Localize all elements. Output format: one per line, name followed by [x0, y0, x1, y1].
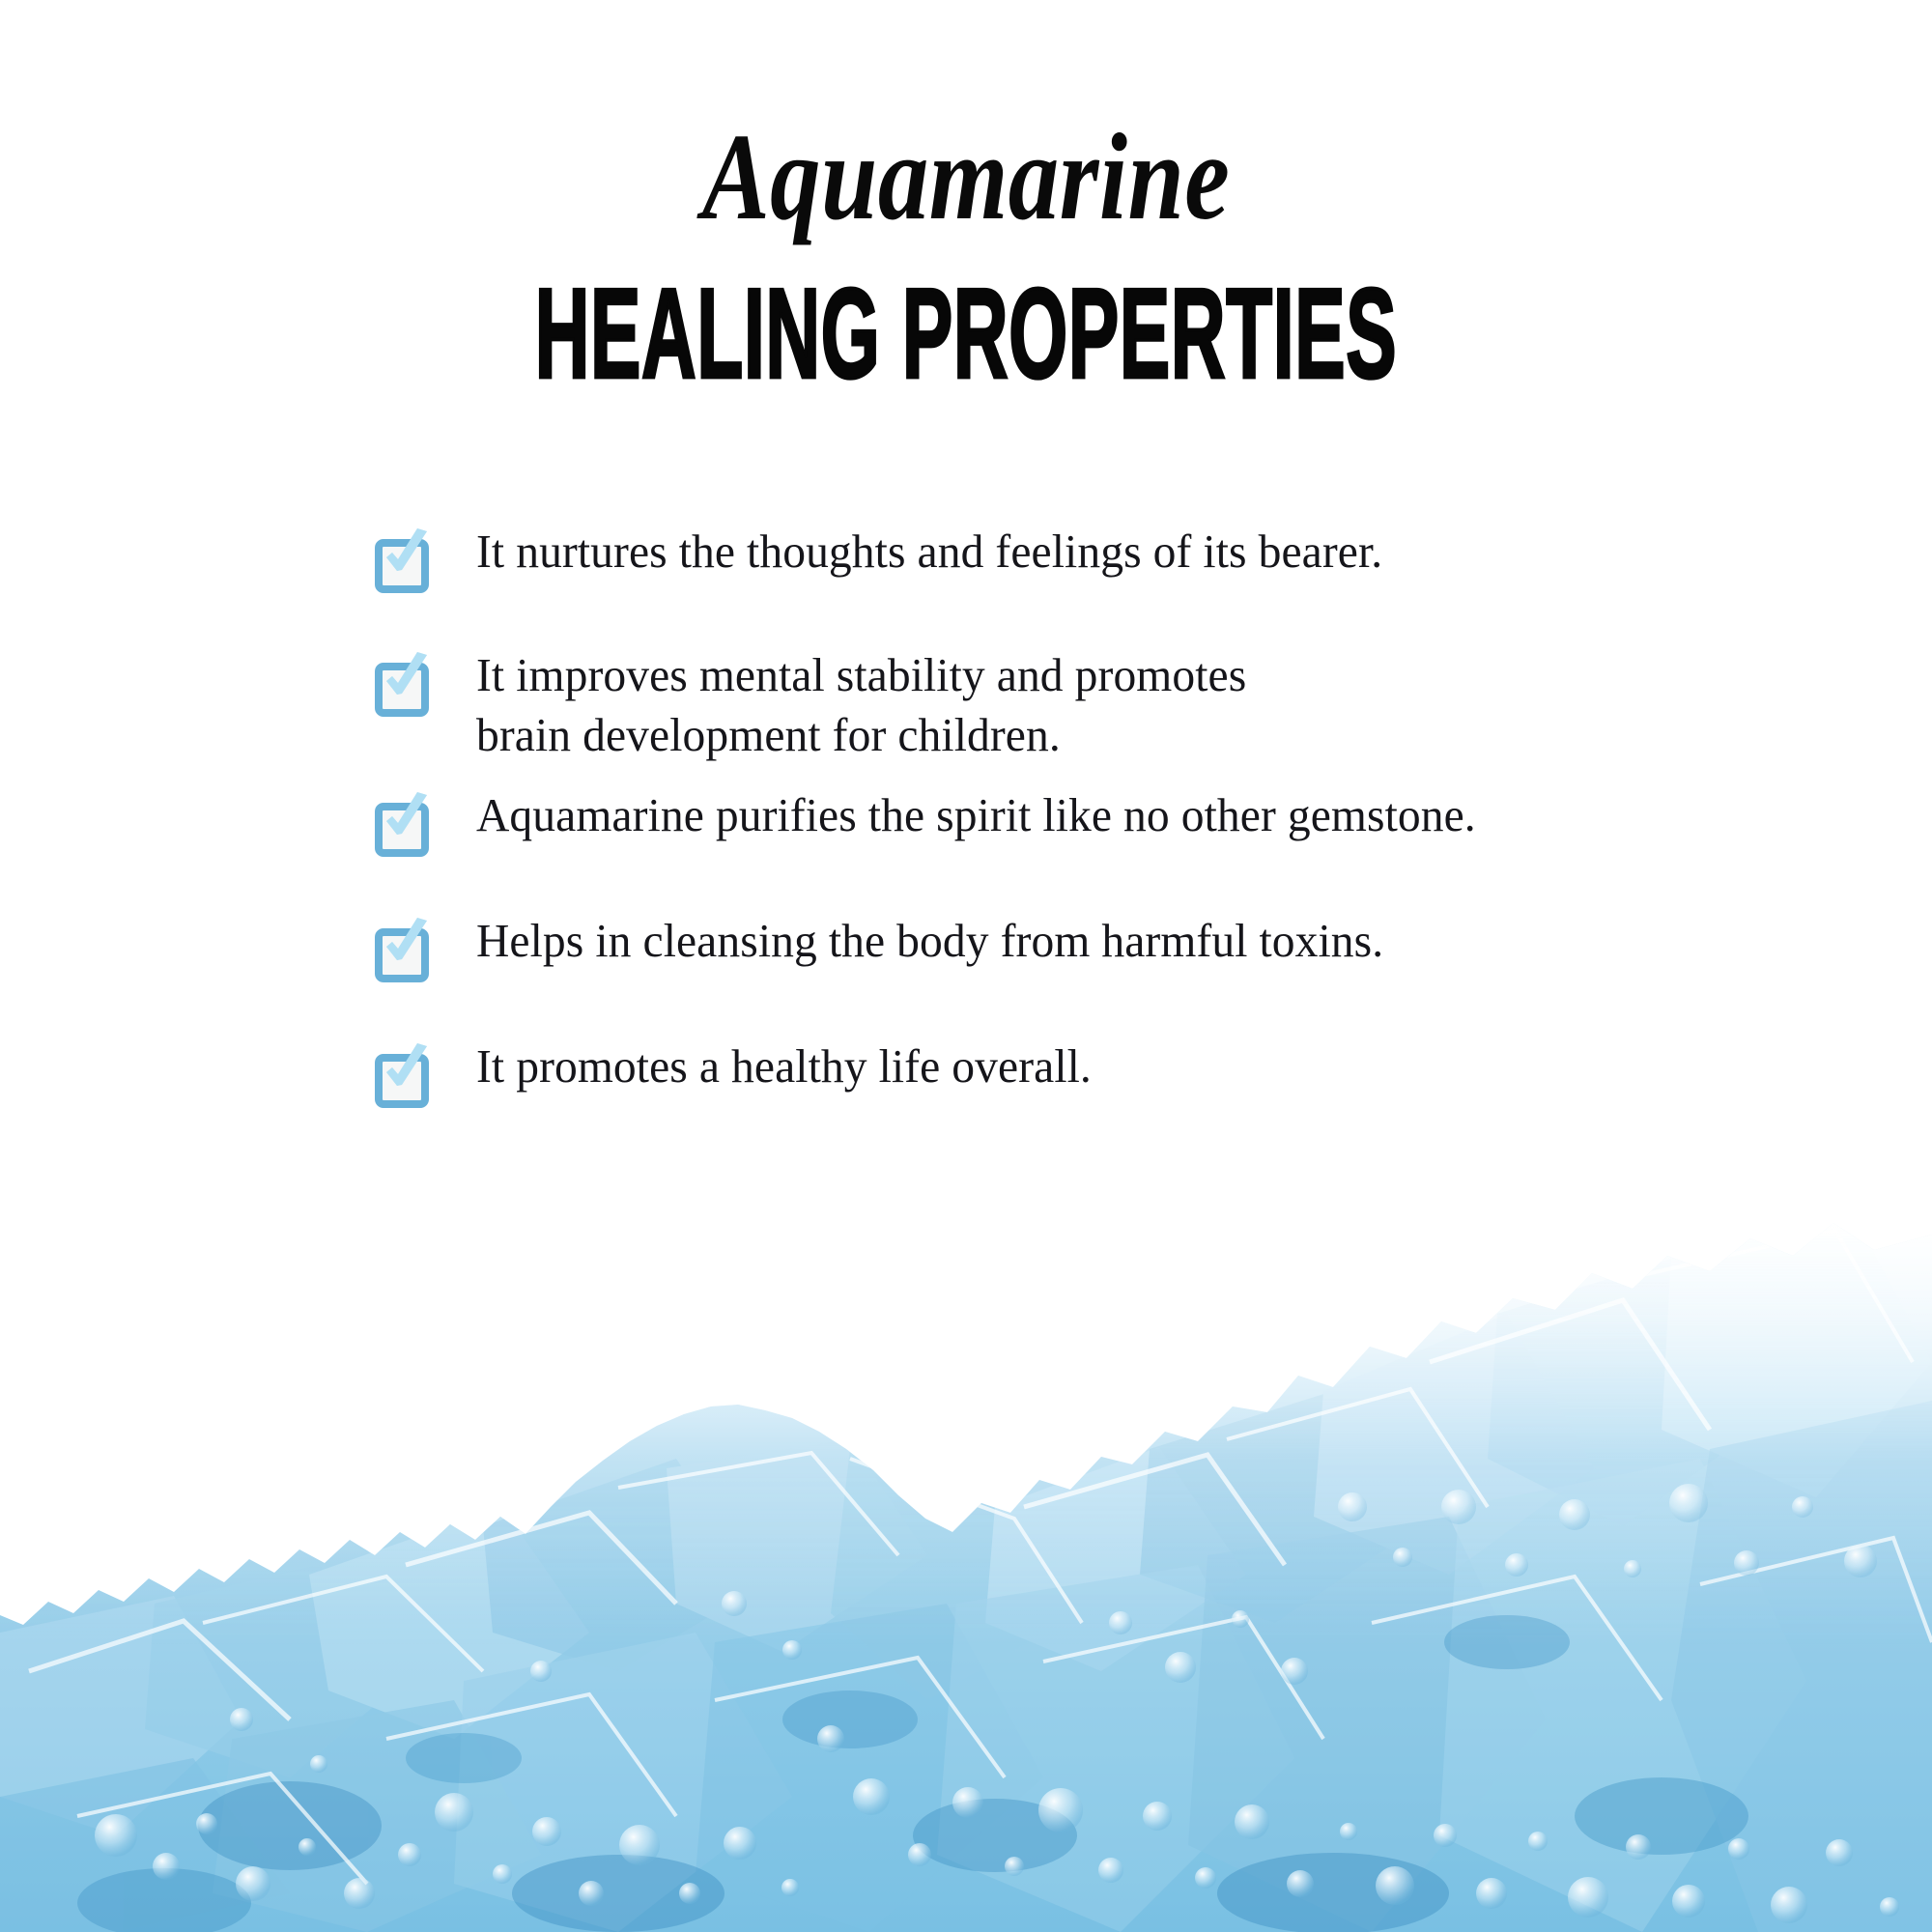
checkbox-checked-icon — [373, 1046, 433, 1102]
list-item-label: It promotes a healthy life overall. — [476, 1037, 1837, 1096]
list-item-label: It nurtures the thoughts and feelings of… — [476, 522, 1837, 582]
list-item-label: Helps in cleansing the body from harmful… — [476, 911, 1837, 971]
checkmark-glyph — [373, 527, 433, 587]
checkbox-checked-icon — [373, 531, 433, 587]
healing-properties-list: It nurtures the thoughts and feelings of… — [373, 522, 1880, 1102]
list-item: Helps in cleansing the body from harmful… — [373, 911, 1880, 977]
list-item: Aquamarine purifies the spirit like no o… — [373, 785, 1880, 851]
ice-cubes-illustration — [0, 1217, 1932, 1932]
checkmark-glyph — [373, 651, 433, 711]
ice-body — [0, 1217, 1932, 1932]
checkmark-glyph — [373, 917, 433, 977]
checkmark-glyph — [373, 791, 433, 851]
page-title-main: HEALING PROPERTIES — [290, 241, 1642, 398]
header: Aquamarine HEALING PROPERTIES — [0, 0, 1932, 374]
checkbox-checked-icon — [373, 655, 433, 711]
ice-cubes-photo — [0, 1217, 1932, 1932]
list-item: It improves mental stability and promote… — [373, 645, 1880, 764]
list-item-label: It improves mental stability and promote… — [476, 645, 1837, 764]
poster-canvas: Aquamarine HEALING PROPERTIES It nurture… — [0, 0, 1932, 1932]
page-title-script: Aquamarine — [174, 0, 1758, 241]
list-item: It promotes a healthy life overall. — [373, 1037, 1880, 1102]
checkbox-checked-icon — [373, 921, 433, 977]
list-item-label: Aquamarine purifies the spirit like no o… — [476, 785, 1837, 845]
checkmark-glyph — [373, 1042, 433, 1102]
list-item: It nurtures the thoughts and feelings of… — [373, 522, 1880, 587]
checkbox-checked-icon — [373, 795, 433, 851]
